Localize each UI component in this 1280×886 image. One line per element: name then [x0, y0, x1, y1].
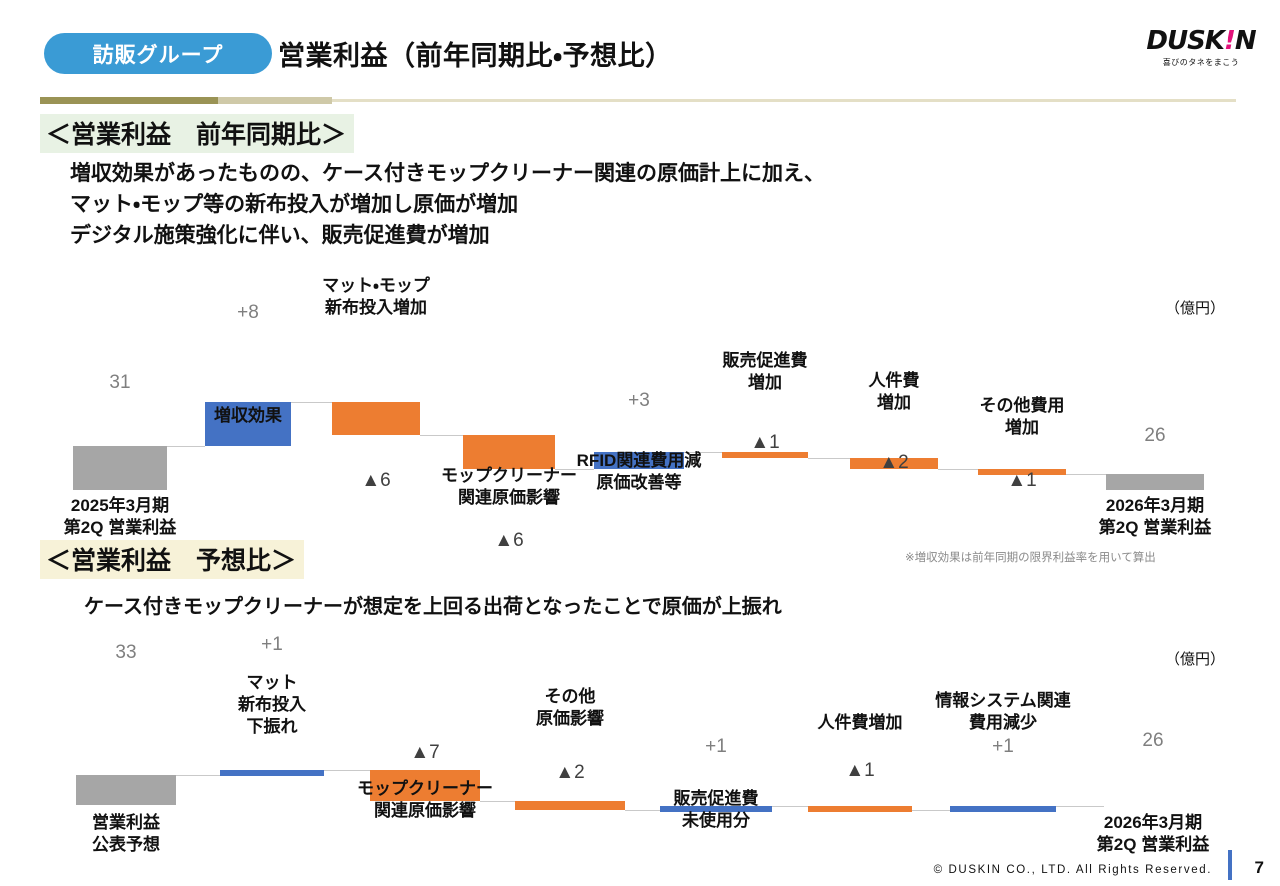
slide: 訪販グループ 営業利益（前年同期比・予想比） DUSK!N 喜びのタネをまこう …	[0, 0, 1280, 886]
waterfall-category-label: モップクリーナー 関連原価影響	[300, 778, 550, 822]
waterfall-category-label: 2025年3月期 第2Q 営業利益	[3, 495, 237, 539]
waterfall-value-label: ▲1	[938, 470, 1106, 492]
group-badge: 訪販グループ	[44, 33, 272, 74]
waterfall-connector	[291, 402, 332, 403]
waterfall-bar	[73, 446, 167, 490]
waterfall-bar	[220, 770, 324, 776]
waterfall-category-label: その他 原価影響	[445, 686, 695, 730]
divider-segment-mid	[218, 97, 332, 104]
waterfall-value-label: 31	[33, 372, 207, 394]
section-heading-yoy: ＜営業利益 前年同期比＞	[40, 114, 354, 153]
copyright-text: © DUSKIN CO., LTD. All Rights Reserved.	[934, 864, 1212, 876]
waterfall-chart-forecast: 33営業利益 公表予想+1マット 新布投入 下振れ▲7モップクリーナー 関連原価…	[0, 650, 1280, 865]
section1-lead-text: 増収効果があったものの、ケース付きモップクリーナー関連の原価計上に加え、 マット…	[70, 158, 825, 251]
logo-text-part2: N	[1235, 26, 1256, 56]
waterfall-bar	[76, 775, 176, 805]
waterfall-value-label: +1	[180, 634, 364, 656]
section-heading-forecast: ＜営業利益 予想比＞	[40, 540, 304, 579]
waterfall-bar	[332, 402, 420, 436]
logo-text-part1: DUSK	[1146, 26, 1224, 56]
waterfall-category-label: RFID関連費用減 原価改善等	[524, 450, 754, 494]
section2-lead-text: ケース付きモップクリーナーが想定を上回る出荷となったことで原価が上振れ	[84, 592, 782, 623]
chart1-footnote: ※増収効果は前年同期の限界利益率を用いて算出	[905, 549, 1156, 565]
header-divider	[40, 97, 1236, 104]
divider-segment-light	[332, 99, 1236, 102]
waterfall-bar	[1106, 474, 1204, 490]
logo-wordmark: DUSK!N	[1140, 28, 1262, 54]
waterfall-category-label: 増収効果	[135, 405, 361, 427]
waterfall-connector	[324, 770, 370, 771]
waterfall-chart-yoy: 312025年3月期 第2Q 営業利益+8増収効果▲6マット・モップ 新布投入増…	[0, 300, 1280, 550]
page-title: 営業利益（前年同期比・予想比）	[278, 33, 673, 74]
waterfall-value-label: 26	[1066, 425, 1244, 447]
waterfall-value-label: ▲2	[475, 762, 665, 784]
waterfall-value-label: ▲7	[330, 742, 520, 764]
waterfall-category-label: 販売促進費 未使用分	[590, 788, 842, 832]
page-number: 7	[1255, 858, 1264, 878]
duskin-logo: DUSK!N 喜びのタネをまこう	[1140, 28, 1262, 68]
waterfall-connector	[420, 435, 463, 436]
waterfall-value-label: ▲1	[682, 432, 848, 454]
footer-accent-bar	[1228, 850, 1232, 880]
waterfall-connector	[912, 810, 950, 811]
waterfall-value-label: ▲1	[768, 760, 952, 782]
waterfall-category-label: 2026年3月期 第2Q 営業利益	[1034, 812, 1272, 856]
waterfall-category-label: 情報システム関連 費用減少	[880, 690, 1126, 734]
waterfall-bar	[808, 806, 912, 812]
waterfall-category-label: 営業利益 公表予想	[6, 812, 246, 856]
waterfall-connector	[176, 775, 220, 776]
waterfall-value-label: +1	[620, 736, 812, 758]
waterfall-connector	[1056, 806, 1104, 807]
waterfall-category-label: マット・モップ 新布投入増加	[262, 275, 490, 319]
divider-segment-dark	[40, 97, 218, 104]
waterfall-value-label: ▲6	[423, 530, 595, 552]
waterfall-value-label: 26	[1064, 730, 1242, 752]
waterfall-connector	[167, 446, 205, 447]
waterfall-category-label: マット 新布投入 下振れ	[150, 672, 394, 738]
waterfall-bar	[950, 806, 1056, 812]
waterfall-category-label: 2026年3月期 第2Q 営業利益	[1036, 495, 1274, 539]
logo-exclamation-icon: !	[1224, 26, 1235, 56]
logo-tagline: 喜びのタネをまこう	[1140, 57, 1262, 68]
